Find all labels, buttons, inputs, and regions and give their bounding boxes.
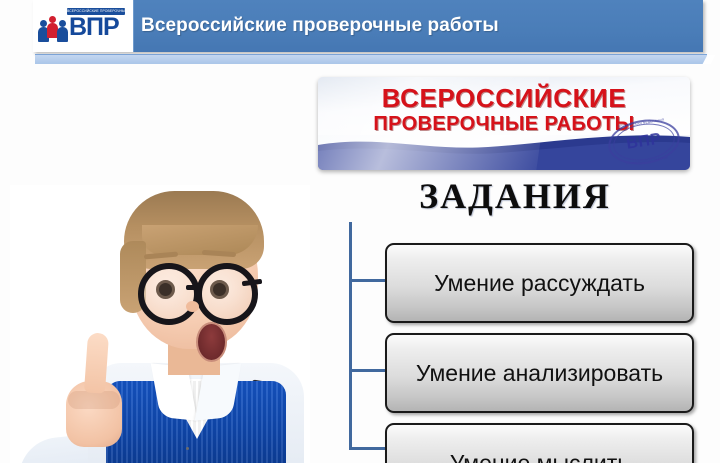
connector-branch-2: [349, 369, 385, 372]
header-banner: ВСЕРОССИЙСКИЕ ПРОВЕРОЧНЫЕ РАБОТЫ ВПР Все…: [33, 0, 703, 52]
boy-mouth: [196, 322, 227, 362]
schoolboy-photo: [10, 185, 310, 463]
boy-nose: [186, 301, 199, 312]
vpr-logo-icon: ВСЕРОССИЙСКИЕ ПРОВЕРОЧНЫЕ РАБОТЫ ВПР: [33, 0, 134, 52]
boy-knuckles: [68, 391, 120, 409]
diagram-node-1[interactable]: Умение рассуждать: [385, 243, 694, 323]
diagram-node-3[interactable]: Умение мыслить: [385, 423, 694, 463]
boy-index-finger: [84, 332, 109, 393]
boy-glasses-bridge: [186, 285, 202, 290]
header-underline-bar: [35, 54, 707, 64]
logo-abbrev-text: ВПР: [69, 15, 119, 40]
slide-canvas: ВСЕРОССИЙСКИЕ ПРОВЕРОЧНЫЕ РАБОТЫ ВПР Все…: [0, 0, 720, 463]
boy-eye-left: [156, 280, 175, 299]
boy-eye-right: [210, 280, 229, 299]
diagram-node-2[interactable]: Умение анализировать: [385, 333, 694, 413]
logo-figures-icon: [40, 14, 70, 44]
boy-vest: [106, 381, 286, 463]
header-title: Всероссийские проверочные работы: [141, 0, 703, 52]
vpr-banner-line1: ВСЕРОССИЙСКИЕ: [318, 84, 690, 112]
vpr-banner-image: ВСЕРОССИЙСКИЕ ПРОВЕРОЧНЫЕ РАБОТЫ РОССИЙС…: [318, 77, 690, 170]
decorative-dot: [186, 447, 189, 450]
connector-branch-3: [349, 447, 385, 450]
boy-hair-fringe: [142, 225, 258, 255]
connector-trunk: [349, 222, 352, 450]
connector-branch-1: [349, 279, 385, 282]
diagram-title: ЗАДАНИЯ: [350, 176, 680, 216]
